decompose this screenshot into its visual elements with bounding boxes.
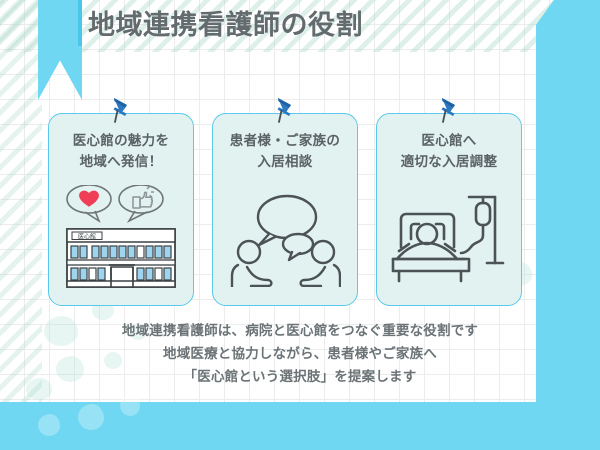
footer-description: 地域連携看護師は、病院と医心館をつなぐ重要な役割です 地域医療と協力しながら、患… [0, 320, 600, 389]
page-title: 地域連携看護師の役割 [88, 6, 363, 46]
slide-root: 地域連携看護師の役割 医心館の魅力を 地域へ発信！ [0, 0, 600, 450]
patient-bed-iv-illustration [377, 173, 521, 305]
building-sign-label: 医心館 [78, 233, 96, 241]
card-title: 医心館の魅力を 地域へ発信！ [73, 131, 170, 173]
building-promotion-illustration: 医心館 [49, 173, 193, 305]
card-title: 医心館へ 適切な入居調整 [401, 131, 498, 173]
decor-blob [120, 394, 140, 416]
card-promotion[interactable]: 医心館の魅力を 地域へ発信！ [48, 113, 194, 306]
pushpin-icon [434, 95, 464, 125]
consultation-people-illustration [213, 173, 357, 305]
decor-blob [78, 404, 104, 430]
heart-icon [79, 191, 99, 207]
pushpin-icon [106, 95, 136, 125]
ribbon-accent-bar [78, 0, 82, 46]
decor-blob [38, 414, 60, 436]
thumbs-up-icon [133, 187, 154, 209]
card-list: 医心館の魅力を 地域へ発信！ [48, 113, 522, 308]
card-consultation[interactable]: 患者様・ご家族の 入居相談 [212, 113, 358, 306]
card-admission-adjustment[interactable]: 医心館へ 適切な入居調整 [376, 113, 522, 306]
bottom-accent-band [0, 402, 600, 450]
card-title: 患者様・ご家族の 入居相談 [230, 131, 340, 173]
pushpin-icon [270, 95, 300, 125]
